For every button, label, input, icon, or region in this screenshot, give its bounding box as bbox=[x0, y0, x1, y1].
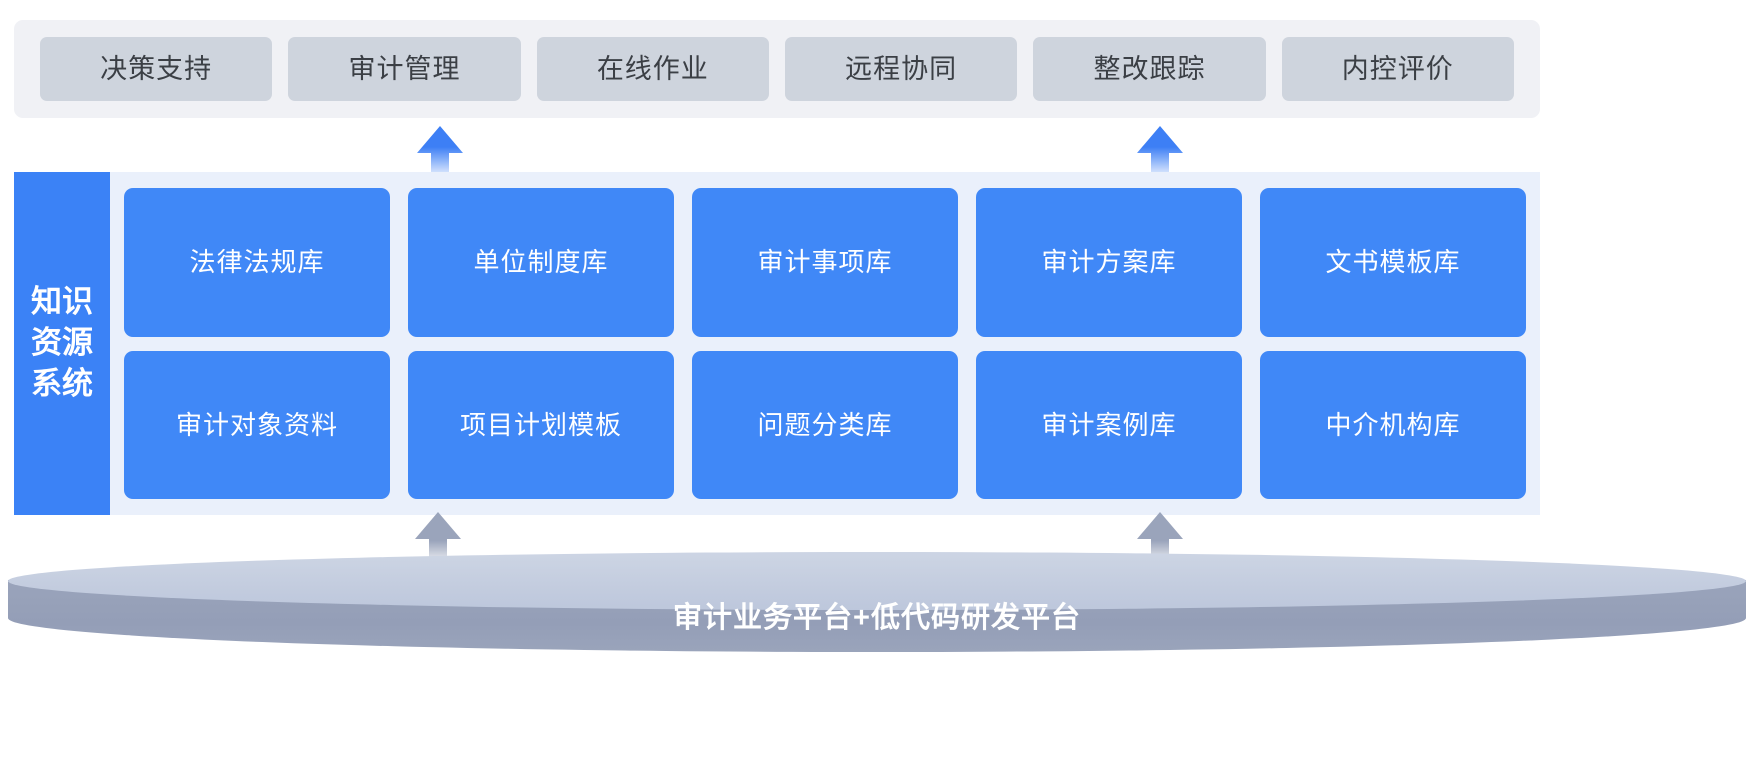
knowledge-tile-audit-items[interactable]: 审计事项库 bbox=[692, 188, 958, 337]
arrow-up-icon bbox=[1137, 126, 1183, 176]
knowledge-sidebar-label: 知识资源系统 bbox=[31, 282, 93, 405]
platform-foundation: 审计业务平台+低代码研发平台 bbox=[0, 552, 1754, 677]
knowledge-tile-audit-object-data[interactable]: 审计对象资料 bbox=[124, 351, 390, 500]
top-band-item-rectification-tracking[interactable]: 整改跟踪 bbox=[1033, 37, 1265, 101]
top-band-item-online-operation[interactable]: 在线作业 bbox=[537, 37, 769, 101]
top-band-item-internal-control-evaluation[interactable]: 内控评价 bbox=[1282, 37, 1514, 101]
arrow-head bbox=[1137, 126, 1183, 153]
arrow-up-icon bbox=[417, 126, 463, 176]
knowledge-resource-system: 知识资源系统 法律法规库 单位制度库 审计事项库 审计方案库 文书模板库 审计对… bbox=[14, 172, 1540, 515]
arrow-head bbox=[415, 512, 461, 539]
knowledge-tile-unit-systems[interactable]: 单位制度库 bbox=[408, 188, 674, 337]
arrow-head bbox=[417, 126, 463, 153]
knowledge-grid-row: 法律法规库 单位制度库 审计事项库 审计方案库 文书模板库 bbox=[124, 188, 1526, 337]
arrow-up-shape bbox=[1137, 126, 1183, 176]
knowledge-grid-row: 审计对象资料 项目计划模板 问题分类库 审计案例库 中介机构库 bbox=[124, 351, 1526, 500]
knowledge-tile-project-plan-templates[interactable]: 项目计划模板 bbox=[408, 351, 674, 500]
top-band-item-audit-management[interactable]: 审计管理 bbox=[288, 37, 520, 101]
knowledge-tile-grid: 法律法规库 单位制度库 审计事项库 审计方案库 文书模板库 审计对象资料 项目计… bbox=[110, 172, 1540, 515]
knowledge-tile-document-templates[interactable]: 文书模板库 bbox=[1260, 188, 1526, 337]
knowledge-tile-issue-classification[interactable]: 问题分类库 bbox=[692, 351, 958, 500]
platform-label: 审计业务平台+低代码研发平台 bbox=[0, 604, 1754, 633]
top-band-item-remote-collaboration[interactable]: 远程协同 bbox=[785, 37, 1017, 101]
knowledge-sidebar: 知识资源系统 bbox=[14, 172, 110, 515]
arrow-head bbox=[1137, 512, 1183, 539]
knowledge-tile-audit-cases[interactable]: 审计案例库 bbox=[976, 351, 1242, 500]
top-band-item-decision-support[interactable]: 决策支持 bbox=[40, 37, 272, 101]
knowledge-tile-intermediary-agencies[interactable]: 中介机构库 bbox=[1260, 351, 1526, 500]
arrow-up-shape bbox=[417, 126, 463, 176]
knowledge-tile-audit-plans[interactable]: 审计方案库 bbox=[976, 188, 1242, 337]
business-capability-band: 决策支持 审计管理 在线作业 远程协同 整改跟踪 内控评价 bbox=[14, 20, 1540, 118]
knowledge-tile-laws-regulations[interactable]: 法律法规库 bbox=[124, 188, 390, 337]
